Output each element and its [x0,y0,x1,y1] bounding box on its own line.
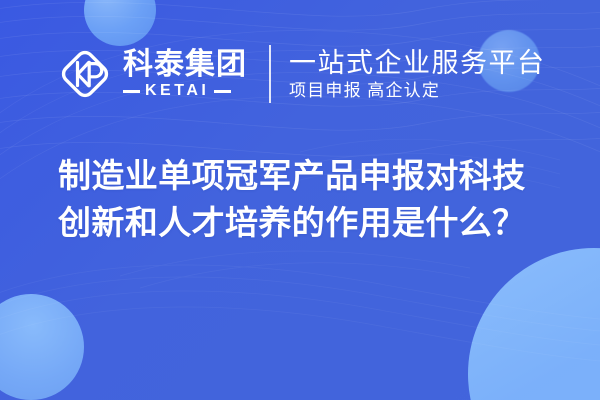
slogan-block: 一站式企业服务平台 项目申报 高企认定 [289,48,546,101]
logo-wordmark: 科泰集团 KETAI [123,49,247,99]
brand-divider [269,45,271,103]
company-name-en-row: KETAI [123,83,247,99]
brand-header: 科泰集团 KETAI 一站式企业服务平台 项目申报 高企认定 [0,0,600,148]
company-name-cn: 科泰集团 [123,49,247,81]
dash-right-icon [214,90,231,93]
slogan-main: 一站式企业服务平台 [289,48,546,78]
decorative-circle-bottom-right [468,248,600,400]
company-name-en: KETAI [145,83,209,99]
dash-left-icon [123,90,140,93]
page-title: 制造业单项冠军产品申报对科技创新和人才培养的作用是什么？ [58,152,558,246]
company-logo[interactable]: 科泰集团 KETAI [58,47,247,101]
slogan-sub: 项目申报 高企认定 [289,81,546,101]
ketai-diamond-kp-monogram-icon [58,47,112,101]
decorative-circle-bottom-left [0,294,84,400]
article-cover-banner: 科泰集团 KETAI 一站式企业服务平台 项目申报 高企认定 制造业单项冠军产品… [0,0,600,400]
